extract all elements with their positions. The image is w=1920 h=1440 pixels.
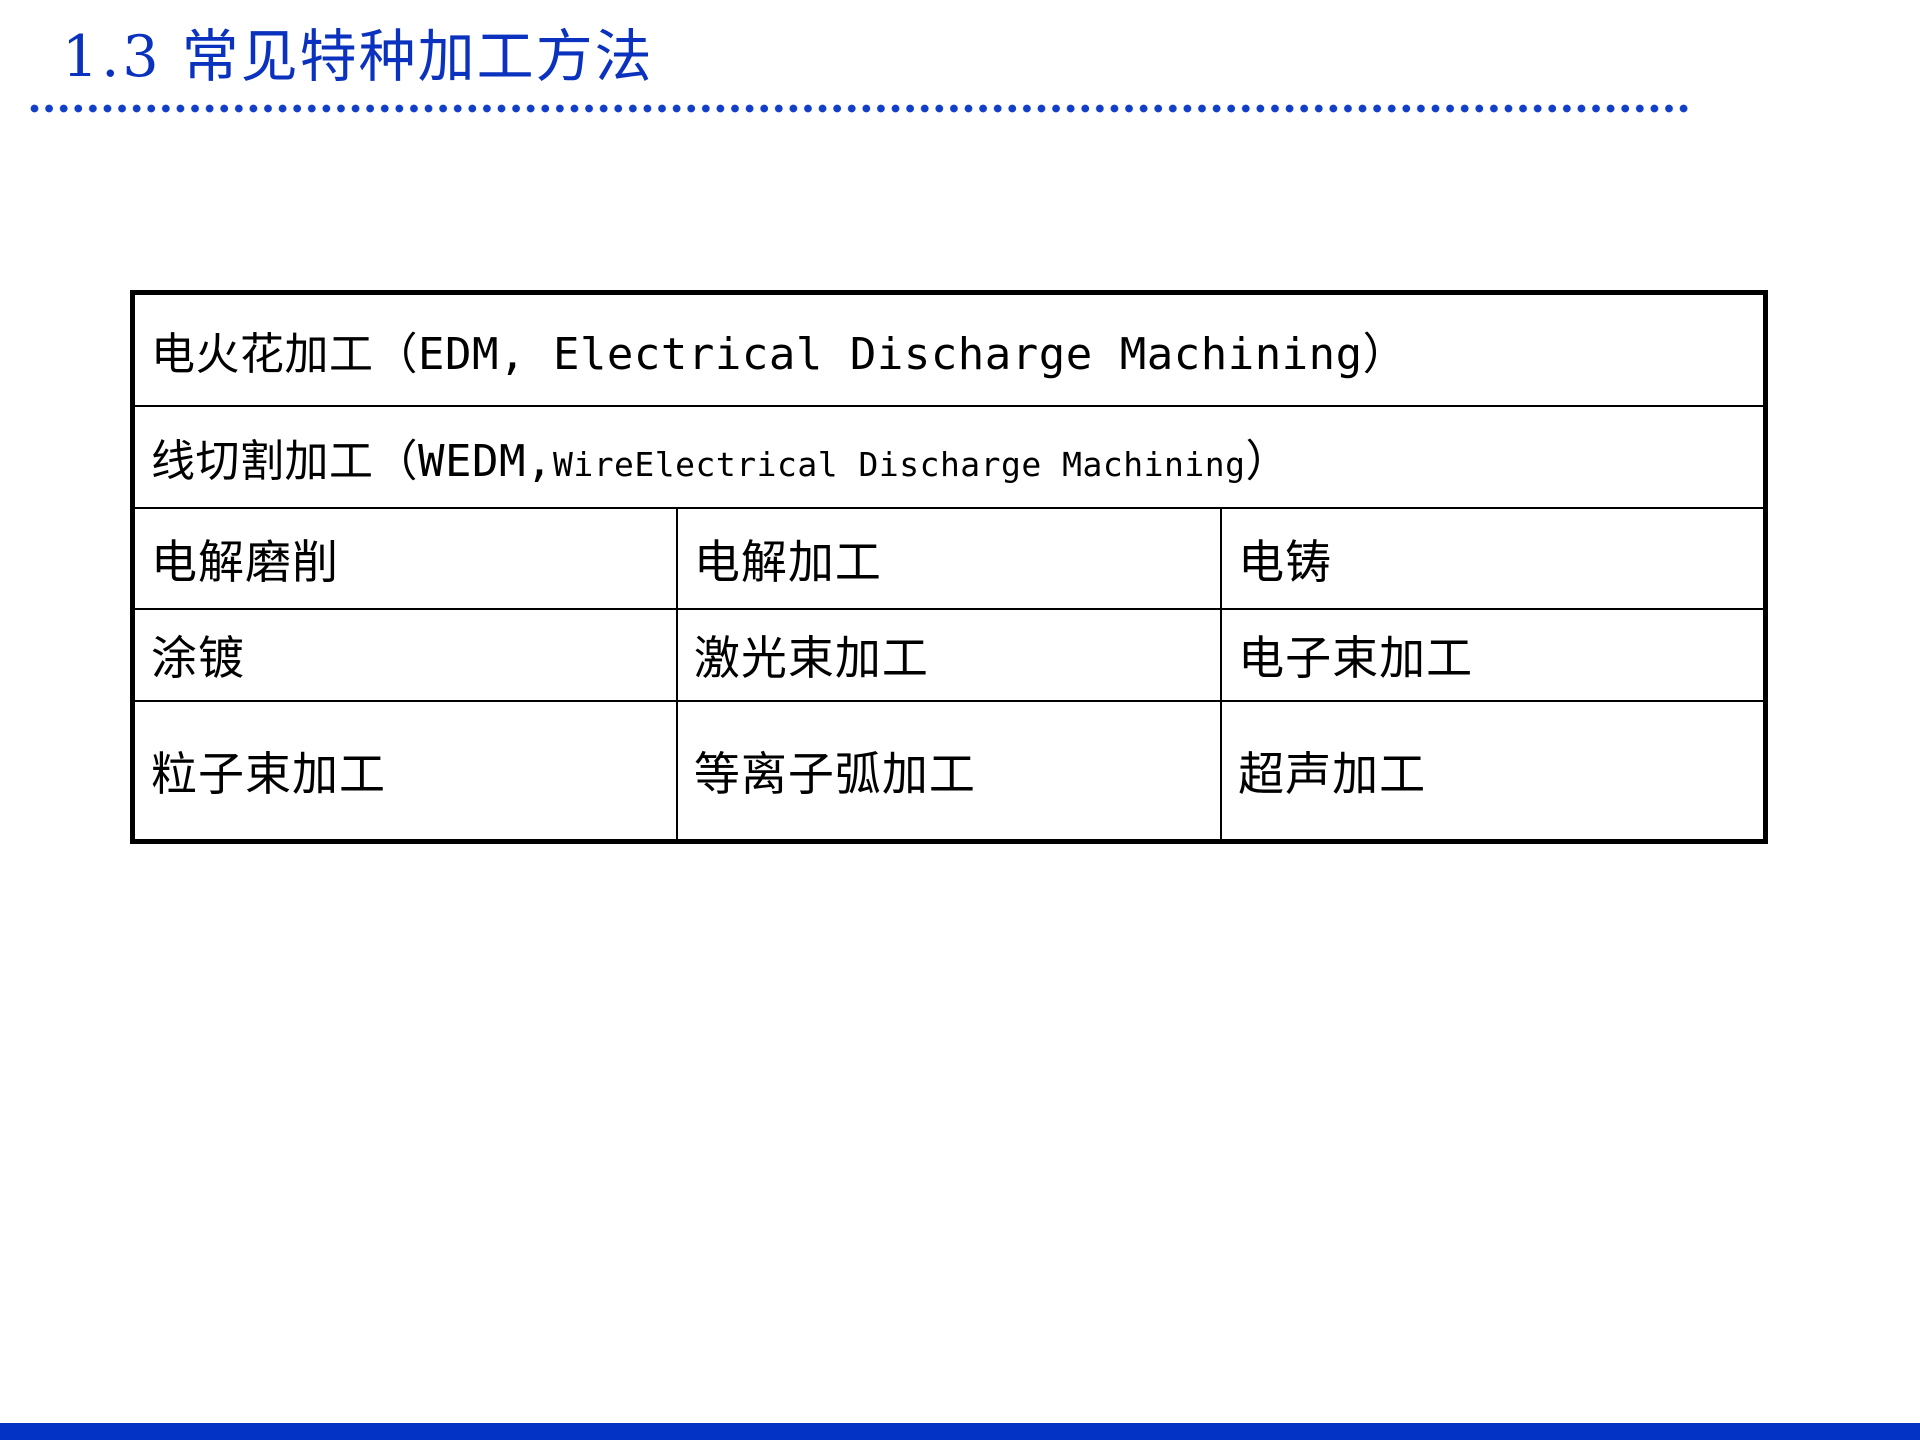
table-row: 涂镀 激光束加工 电子束加工 [133,609,1766,701]
table-cell-plating: 涂镀 [133,609,677,701]
table-cell-electrolytic-machining: 电解加工 [677,508,1221,609]
table-cell-wedm: 线切割加工（WEDM,WireElectrical Discharge Mach… [133,406,1766,508]
wedm-latin: WireElectrical Discharge Machining [553,445,1246,484]
table-row: 电火花加工（EDM, Electrical Discharge Machinin… [133,293,1766,407]
wedm-prefix: 线切割加工（WEDM, [151,436,553,487]
page-title: 1.3常见特种加工方法 [62,22,654,92]
table-cell-edm: 电火花加工（EDM, Electrical Discharge Machinin… [133,293,1766,407]
table-cell-electron-beam-machining: 电子束加工 [1221,609,1765,701]
table-row: 电解磨削 电解加工 电铸 [133,508,1766,609]
page-title-number: 1.3 [62,24,162,90]
table-cell-electroforming: 电铸 [1221,508,1765,609]
table-row: 线切割加工（WEDM,WireElectrical Discharge Mach… [133,406,1766,508]
table-cell-electrolytic-grinding: 电解磨削 [133,508,677,609]
table-cell-plasma-arc-machining: 等离子弧加工 [677,701,1221,842]
table-cell-ion-beam-machining: 粒子束加工 [133,701,677,842]
machining-methods-table: 电火花加工（EDM, Electrical Discharge Machinin… [130,290,1768,844]
footer-bar [0,1423,1920,1440]
wedm-suffix: ） [1245,436,1290,487]
title-dotted-divider [30,104,1690,113]
table-row: 粒子束加工 等离子弧加工 超声加工 [133,701,1766,842]
slide-header: 1.3常见特种加工方法 [0,0,1920,130]
page-title-text: 常见特种加工方法 [182,24,654,90]
table-cell-ultrasonic-machining: 超声加工 [1221,701,1765,842]
table-cell-laser-beam-machining: 激光束加工 [677,609,1221,701]
slide-canvas: 1.3常见特种加工方法 电火花加工（EDM, Electrical Discha… [0,0,1920,1440]
